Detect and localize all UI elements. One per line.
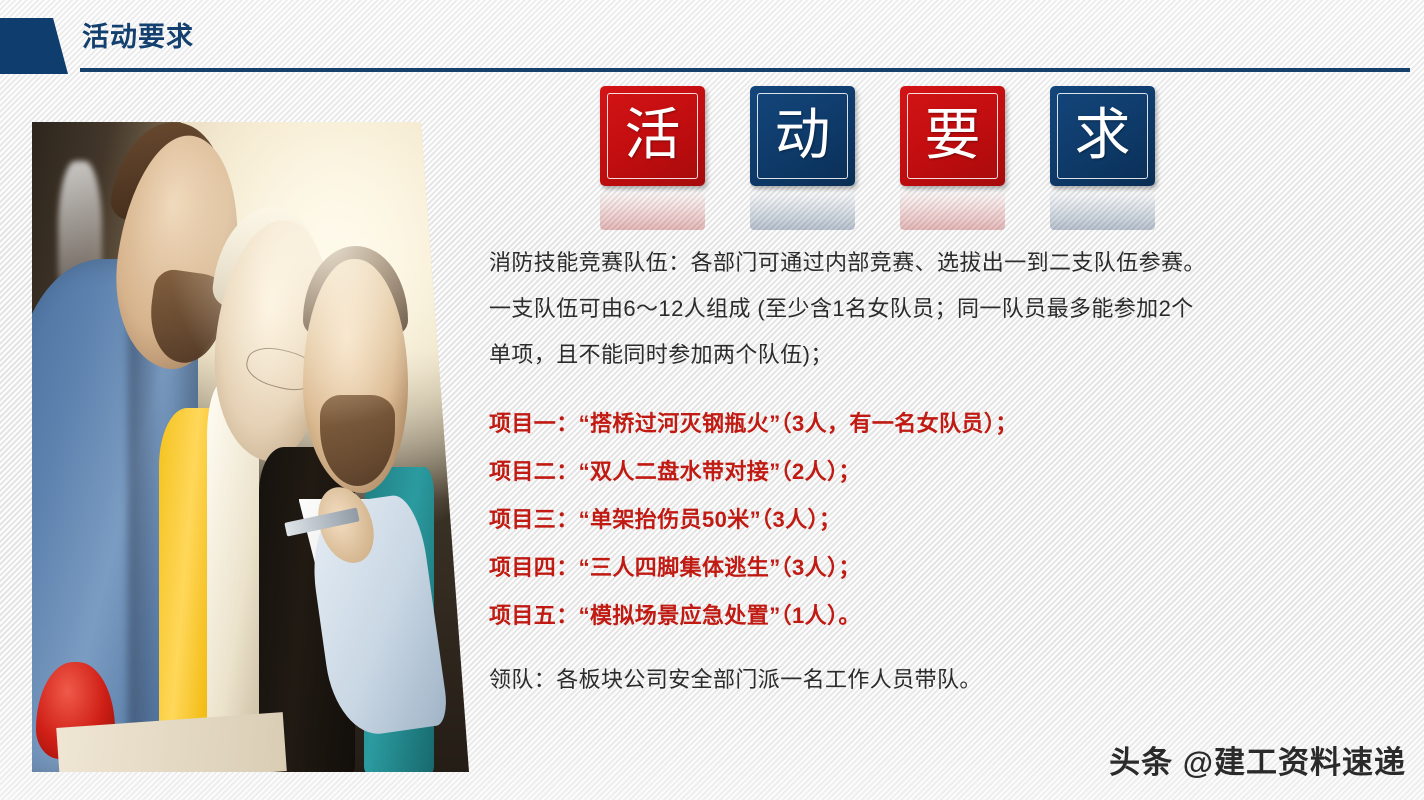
list-item: 项目二：“双人二盘水带对接”（2人）；: [489, 448, 1319, 496]
tile-4-reflection: [1050, 188, 1155, 230]
body-content: 消防技能竞赛队伍：各部门可通过内部竞赛、选拔出一到二支队伍参赛。 一支队伍可由6…: [489, 240, 1319, 700]
intro-paragraph: 消防技能竞赛队伍：各部门可通过内部竞赛、选拔出一到二支队伍参赛。 一支队伍可由6…: [489, 240, 1319, 378]
tile-1-char: 活: [625, 108, 681, 164]
closing-note: 领队：各板块公司安全部门派一名工作人员带队。: [489, 660, 1319, 700]
tile-3: 要: [900, 86, 1005, 186]
intro-line-1: 消防技能竞赛队伍：各部门可通过内部竞赛、选拔出一到二支队伍参赛。: [489, 240, 1319, 286]
tile-2-char: 动: [775, 108, 831, 164]
slide-header: 活动要求: [0, 0, 1424, 80]
header-divider: [80, 68, 1410, 72]
team-photo: [32, 122, 469, 772]
list-item: 项目五：“模拟场景应急处置”（1人）。: [489, 592, 1319, 640]
event-items-list: 项目一：“搭桥过河灭钢瓶火”（3人，有一名女队员）； 项目二：“双人二盘水带对接…: [489, 400, 1319, 640]
tile-2: 动: [750, 86, 855, 186]
tile-2-box: 动: [750, 86, 855, 186]
photo-scene: [32, 122, 469, 772]
tile-4: 求: [1050, 86, 1155, 186]
tile-3-box: 要: [900, 86, 1005, 186]
tile-3-reflection: [900, 188, 1005, 230]
tile-4-char: 求: [1075, 108, 1131, 164]
header-accent-shape: [0, 18, 68, 74]
intro-line-2: 一支队伍可由6～12人组成 (至少含1名女队员；同一队员最多能参加2个: [489, 286, 1319, 332]
list-item: 项目三：“单架抬伤员50米”（3人）；: [489, 496, 1319, 544]
list-item: 项目一：“搭桥过河灭钢瓶火”（3人，有一名女队员）；: [489, 400, 1319, 448]
list-item: 项目四：“三人四脚集体逃生”（3人）；: [489, 544, 1319, 592]
page-title: 活动要求: [82, 19, 194, 55]
tile-3-char: 要: [925, 108, 981, 164]
tile-4-box: 求: [1050, 86, 1155, 186]
title-character-tiles: 活 动 要 求: [600, 86, 1170, 231]
intro-line-3: 单项，且不能同时参加两个队伍)；: [489, 332, 1319, 378]
person-blue-jacket-shadow: [128, 317, 163, 772]
tile-1-reflection: [600, 188, 705, 230]
slide-canvas: 活动要求: [0, 0, 1424, 800]
tile-1: 活: [600, 86, 705, 186]
tile-1-box: 活: [600, 86, 705, 186]
tile-2-reflection: [750, 188, 855, 230]
watermark: 头条 @建工资料速递: [1109, 737, 1406, 782]
